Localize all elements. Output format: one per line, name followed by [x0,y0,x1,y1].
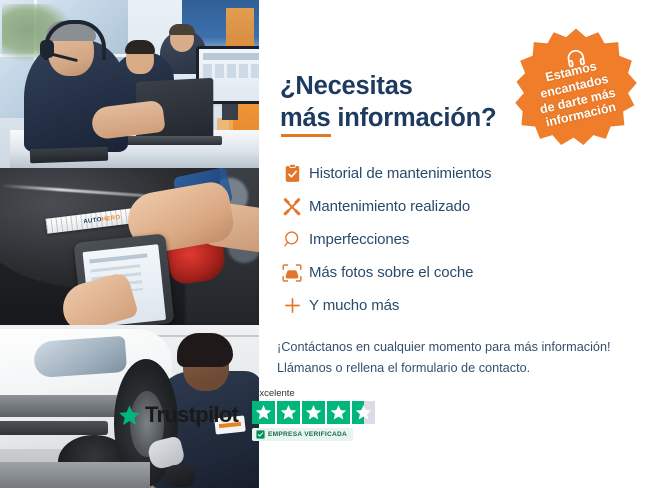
star-5-half [352,401,375,424]
crossed-tools-glyph [282,197,302,217]
feature-item-much-more: Y mucho más [275,289,635,322]
star-icon [280,404,297,421]
car-scan-icon [275,264,309,282]
magnifier-icon [275,230,309,249]
car-scan-glyph [282,264,302,282]
car-headlight [33,336,127,378]
contact-paragraph-line-2: Llámanos o rellena el formulario de cont… [277,358,637,379]
car-inspection-ruler-tablet-photo: AUTOHERO [0,168,259,325]
car-grille-upper [0,395,120,417]
mechanic-hair [177,333,233,367]
plus-glyph [283,296,302,315]
monitor-stand [222,104,238,120]
trustpilot-rating-label: Excelente [252,388,398,399]
feature-item-imperfections: Imperfecciones [275,223,635,256]
plus-icon [275,296,309,315]
background-agent-one-hair [125,40,155,54]
trustpilot-wordmark: Trustpilot [145,402,238,428]
star-icon [305,404,322,421]
trustpilot-logo[interactable]: Trustpilot [118,402,238,428]
feature-item-maintenance-done: Mantenimiento realizado [275,190,635,223]
page-title-line-2: más información? [280,103,530,135]
verified-business-badge: EMPRESA VERIFICADA [252,428,353,441]
contact-paragraph: ¡Contáctanos en cualquier momento para m… [277,337,637,379]
car-grille-lower [0,421,108,435]
feature-label: Y mucho más [309,297,399,314]
star-icon [355,404,372,421]
trustpilot-stars [252,401,398,424]
feature-label: Historial de mantenimientos [309,165,491,182]
promo-card: AUTOHERO [0,0,650,488]
feature-label: Más fotos sobre el coche [309,264,473,281]
feature-label: Imperfecciones [309,231,409,248]
crossed-tools-icon [275,197,309,217]
contact-paragraph-line-1: ¡Contáctanos en cualquier momento para m… [277,337,637,358]
clipboard-check-glyph [284,164,301,183]
feature-item-maintenance-history: Historial de mantenimientos [275,157,635,190]
star-icon [255,404,272,421]
title-underline-divider [281,134,331,137]
laptop-base [124,136,222,145]
mechanic-glove-two [165,465,195,487]
page-title: ¿Necesitas más información? [280,71,530,135]
feature-label: Mantenimiento realizado [309,198,470,215]
trustpilot-star-icon [118,404,141,427]
star-4 [327,401,350,424]
call-center-agents-photo [0,0,259,168]
star-2 [277,401,300,424]
feature-list: Historial de mantenimientos Mantenimient… [275,157,635,322]
verified-check-icon [256,430,265,439]
trustpilot-rating[interactable]: Trustpilot Excelente [118,388,398,448]
background-agent-two-hair [169,24,195,35]
car-lift-platform [0,462,150,488]
magnifier-glyph [283,230,302,249]
support-badge: Estamos encantados de darte más informac… [514,26,638,152]
star-1 [252,401,275,424]
feature-item-more-photos: Más fotos sobre el coche [275,256,635,289]
star-3 [302,401,325,424]
verified-business-label: EMPRESA VERIFICADA [268,431,347,438]
page-title-line-1: ¿Necesitas [280,71,530,103]
desk-keyboard [30,147,108,164]
trustpilot-score-block: Excelente [252,388,398,444]
clipboard-check-icon [275,164,309,183]
star-icon [330,404,347,421]
